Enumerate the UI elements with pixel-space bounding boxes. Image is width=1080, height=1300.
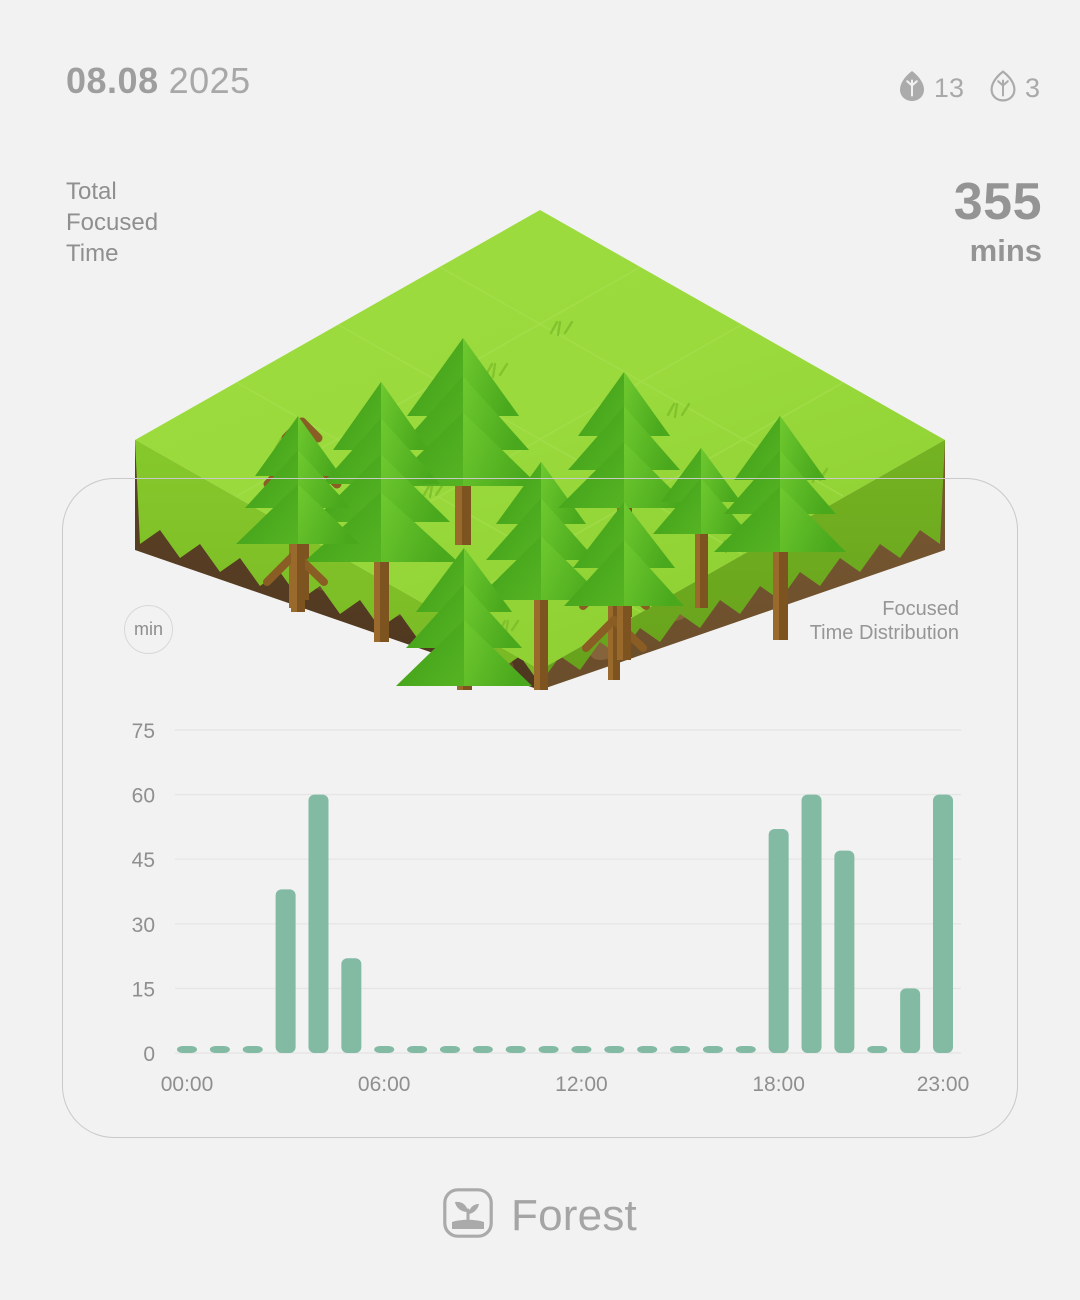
y-axis-tick-label: 60 — [132, 785, 155, 808]
chart-y-axis-labels: 01530456075 — [132, 720, 155, 1066]
chart-bar — [769, 829, 789, 1053]
x-axis-tick-label: 12:00 — [555, 1073, 608, 1096]
date-year: 2025 — [169, 60, 251, 101]
total-label-line-3: Time — [66, 238, 158, 269]
header: 08.082025 13 — [0, 0, 1080, 150]
chart-bar — [802, 795, 822, 1053]
x-axis-tick-label: 23:00 — [917, 1073, 970, 1096]
chart-bar — [177, 1046, 197, 1053]
chart-bar — [276, 889, 296, 1053]
total-focused-time-value: 355 mins — [954, 172, 1042, 270]
chart-bar — [736, 1046, 756, 1053]
total-minutes-number: 355 — [954, 172, 1042, 232]
focused-time-bar-chart: 01530456075 00:0006:0012:0018:0023:00 — [63, 479, 1019, 1139]
counter-group: 13 3 — [899, 70, 1040, 107]
chart-bar — [571, 1046, 591, 1053]
chart-bar — [341, 958, 361, 1053]
forest-sprout-logo-icon — [443, 1188, 493, 1243]
chart-bar — [604, 1046, 624, 1053]
forest-wordmark: Forest — [511, 1194, 637, 1238]
y-axis-tick-label: 15 — [132, 978, 155, 1001]
chart-bar — [440, 1046, 460, 1053]
chart-bar — [933, 795, 953, 1053]
date-day: 08.08 — [66, 60, 159, 101]
leaf-filled-icon — [899, 70, 925, 107]
trees-withered-count: 3 — [1025, 75, 1040, 102]
chart-bar — [834, 851, 854, 1053]
chart-bar — [473, 1046, 493, 1053]
x-axis-tick-label: 00:00 — [161, 1073, 214, 1096]
total-focused-time-label: Total Focused Time — [66, 176, 158, 269]
chart-bar — [703, 1046, 723, 1053]
trees-planted-count: 13 — [934, 75, 964, 102]
leaf-outline-icon — [990, 70, 1016, 107]
y-axis-tick-label: 75 — [132, 720, 155, 743]
chart-bar — [407, 1046, 427, 1053]
chart-bar — [867, 1046, 887, 1053]
trees-planted-counter: 13 — [899, 70, 964, 107]
chart-x-axis-labels: 00:0006:0012:0018:0023:00 — [161, 1073, 970, 1096]
total-label-line-2: Focused — [66, 207, 158, 238]
trees-withered-counter: 3 — [990, 70, 1040, 107]
total-minutes-unit: mins — [954, 232, 1042, 270]
date-header: 08.082025 — [66, 63, 251, 99]
x-axis-tick-label: 06:00 — [358, 1073, 411, 1096]
chart-bar — [539, 1046, 559, 1053]
chart-bar — [900, 988, 920, 1053]
chart-bar — [210, 1046, 230, 1053]
chart-bar — [670, 1046, 690, 1053]
footer-brand: Forest — [0, 1188, 1080, 1243]
chart-bar — [637, 1046, 657, 1053]
focused-time-distribution-card: min Focused Time Distribution 0153045607… — [62, 478, 1018, 1138]
x-axis-tick-label: 18:00 — [752, 1073, 805, 1096]
chart-bar — [243, 1046, 263, 1053]
y-axis-tick-label: 0 — [143, 1043, 155, 1066]
y-axis-tick-label: 45 — [132, 849, 155, 872]
y-axis-tick-label: 30 — [132, 914, 155, 937]
chart-bar — [506, 1046, 526, 1053]
chart-bar — [374, 1046, 394, 1053]
total-label-line-1: Total — [66, 176, 158, 207]
chart-bar — [308, 795, 328, 1053]
